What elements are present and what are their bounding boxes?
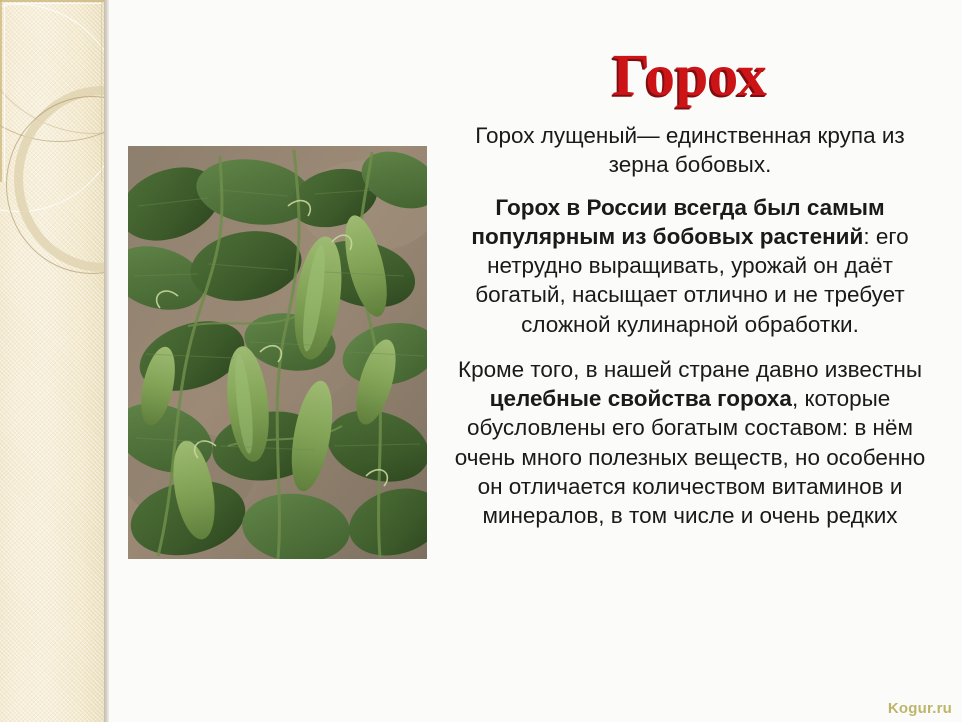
slide-canvas: Горох Горох лущеный— единственная крупа …: [0, 0, 962, 722]
site-watermark: Kogur.ru: [888, 700, 952, 717]
decorative-sidebar-band: [0, 0, 104, 722]
paragraph-spacer: [440, 184, 940, 193]
paragraph-intro: Горох лущеный— единственная крупа из зер…: [440, 121, 940, 180]
content-column: Горох Горох лущеный— единственная крупа …: [440, 46, 940, 537]
band-edge-left: [0, 0, 2, 182]
paragraph-popularity: Горох в России всегда был самым популярн…: [440, 193, 940, 339]
paragraph-intro-text: Горох лущеный— единственная крупа из зер…: [475, 123, 904, 177]
page-title: Горох: [440, 46, 940, 105]
pea-plant-photo: [128, 146, 427, 559]
paragraph-spacer-2: [440, 346, 940, 355]
paragraph-popularity-bold: Горох в России всегда был самым популярн…: [471, 195, 884, 249]
paragraph-properties-bold: целебные свойства гороха: [490, 386, 792, 411]
paragraph-properties: Кроме того, в нашей стране давно известн…: [440, 355, 940, 531]
band-edge-top: [0, 0, 104, 2]
band-inner-frame: [4, 3, 102, 182]
paragraph-properties-lead: Кроме того, в нашей стране давно известн…: [458, 357, 922, 382]
band-seam: [104, 0, 109, 722]
pea-plant-illustration: [128, 146, 427, 559]
